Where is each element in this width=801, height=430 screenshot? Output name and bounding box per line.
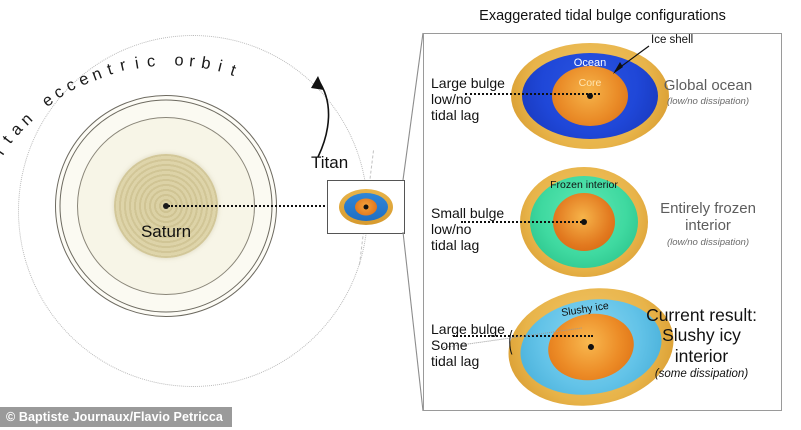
ocean-layer-label: Ocean (574, 57, 606, 69)
result-label-slushy-ice: Current result: Slushy icy interior (som… (629, 305, 774, 380)
diagram-canvas: Titan eccentric orbit Saturn Titan (0, 0, 801, 430)
dissipation-note: (low/no dissipation) (642, 237, 774, 248)
result-line-2: interior (642, 217, 774, 234)
bulge-line-3: tidal lag (431, 107, 505, 123)
dissipation-note: (some dissipation) (629, 368, 774, 380)
config-row-frozen-interior: Frozen interior Small bulge low/no tidal… (423, 155, 782, 281)
config-row-slushy-ice: Slushy ice ( Large bulge Some tidal lag … (423, 277, 782, 411)
saturn-system-panel: Titan eccentric orbit Saturn Titan (0, 0, 420, 430)
saturn-label: Saturn (141, 222, 191, 242)
ice-shell-label: Ice shell (651, 34, 693, 46)
center-point (581, 219, 587, 225)
config-row-global-ocean: Ocean Core Ice shell Large bulge low/no … (423, 33, 782, 159)
tidal-lag-brace: ( (509, 327, 513, 356)
dissipation-note: (low/no dissipation) (642, 96, 774, 107)
bulge-line-2: Some (431, 337, 505, 353)
credit-banner: © Baptiste Journaux/Flavio Petricca (0, 407, 232, 427)
bulge-line-1: Small bulge (431, 205, 504, 221)
bulge-annotation-frozen-interior: Small bulge low/no tidal lag (431, 205, 504, 254)
titan-label: Titan (311, 153, 348, 173)
bulge-line-2: low/no (431, 91, 505, 107)
bulge-line-1: Large bulge (431, 321, 505, 337)
panel-title: Exaggerated tidal bulge configurations (423, 8, 782, 24)
mini-center-point (364, 205, 369, 210)
result-line-1: Global ocean (642, 77, 774, 94)
ice-shell-leader (613, 41, 693, 75)
core-layer-label: Core (579, 77, 602, 89)
center-point (587, 93, 593, 99)
orbit-direction-arrow (278, 62, 338, 162)
frozen-layer-label: Frozen interior (550, 179, 618, 191)
bulge-annotation-slushy-ice: Large bulge Some tidal lag (431, 321, 505, 370)
result-line-3: interior (629, 346, 774, 366)
result-line-2: Slushy icy (629, 325, 774, 345)
result-label-global-ocean: Global ocean (low/no dissipation) (642, 77, 774, 107)
bulge-line-1: Large bulge (431, 75, 505, 91)
titan-mini-graphic (339, 189, 393, 225)
result-line-1: Current result: (629, 305, 774, 325)
bulge-annotation-global-ocean: Large bulge low/no tidal lag (431, 75, 505, 124)
bulge-line-3: tidal lag (431, 353, 505, 369)
titan-inset-box (327, 180, 405, 234)
bulge-line-3: tidal lag (431, 237, 504, 253)
result-label-frozen-interior: Entirely frozen interior (low/no dissipa… (642, 200, 774, 248)
bulge-line-2: low/no (431, 221, 504, 237)
result-line-1: Entirely frozen (642, 200, 774, 217)
